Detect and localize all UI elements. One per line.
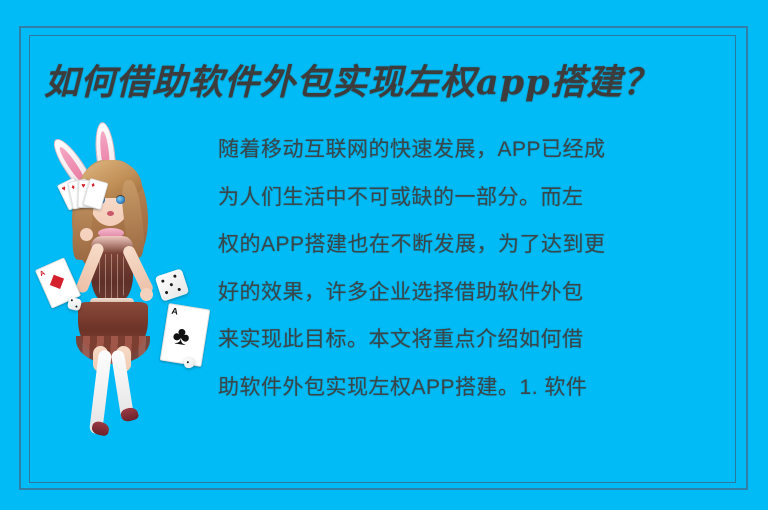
body-line: 来实现此目标。本文将重点介绍如何借 <box>218 316 734 364</box>
character-shoe-left <box>91 420 110 436</box>
body-line: 权的APP搭建也在不断发展，为了达到更 <box>218 221 734 269</box>
die-large <box>155 268 190 301</box>
body-line: 助软件外包实现左权APP搭建。1. 软件 <box>218 364 734 412</box>
die-small-right <box>183 357 195 369</box>
character-corset-lacing <box>99 254 125 298</box>
body-line: 好的效果，许多企业选择借助软件外包 <box>218 269 734 317</box>
article-body: 随着移动互联网的快速发展，APP已经成 为人们生活中不可或缺的一部分。而左 权的… <box>218 126 734 411</box>
character-mouth <box>107 211 114 216</box>
page-title: 如何借助软件外包实现左权app搭建？ <box>44 58 704 110</box>
body-line: 随着移动互联网的快速发展，APP已经成 <box>218 126 734 174</box>
poster-canvas: 如何借助软件外包实现左权app搭建？ ♥ ♦ ♥ <box>0 0 768 510</box>
card-rank-label: A <box>171 307 179 317</box>
diamond-suit-icon <box>50 275 64 289</box>
card-rank-label: A <box>39 270 46 278</box>
character-eye-right <box>116 196 125 204</box>
bunny-girl-illustration: ♥ ♦ ♥ ♦ A A ♣ <box>36 112 236 430</box>
character-hand-left <box>80 228 93 241</box>
body-line: 为人们生活中不可或缺的一部分。而左 <box>218 174 734 222</box>
playing-card-fan-icon: ♥ ♦ ♥ ♦ <box>62 174 108 218</box>
character-hand-right <box>140 288 153 301</box>
ace-of-clubs-card: A ♣ <box>160 303 211 367</box>
clubs-suit-icon: ♣ <box>171 321 192 349</box>
